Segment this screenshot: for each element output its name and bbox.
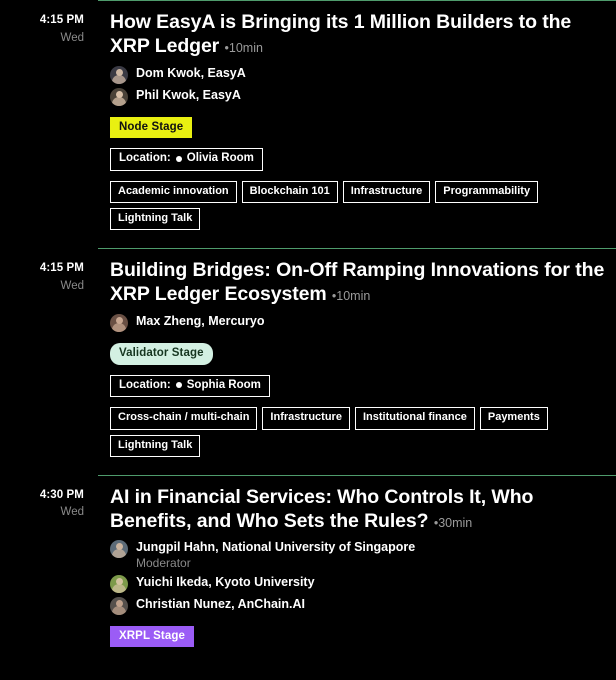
location-dot-icon <box>176 156 182 162</box>
session-time-column: 4:30 PMWed <box>0 488 84 521</box>
session-body: Building Bridges: On-Off Ramping Innovat… <box>98 259 608 456</box>
speaker-text: Christian Nunez, AnChain.AI <box>136 596 305 612</box>
speaker-text: Dom Kwok, EasyA <box>136 65 246 81</box>
speaker-list: Max Zheng, Mercuryo <box>110 313 608 332</box>
stage-badge[interactable]: Validator Stage <box>110 343 213 365</box>
session-day: Wed <box>0 505 84 521</box>
session-duration: •10min <box>332 289 370 303</box>
location-room: Olivia Room <box>187 152 254 166</box>
avatar <box>110 88 128 106</box>
tag-chip[interactable]: Lightning Talk <box>110 208 200 230</box>
stage-row: XRPL Stage <box>110 626 608 648</box>
session-time-column: 4:15 PMWed <box>0 261 84 294</box>
stage-row: Validator Stage <box>110 343 608 365</box>
session-start-time: 4:30 PM <box>0 488 84 504</box>
session-title[interactable]: AI in Financial Services: Who Controls I… <box>110 486 608 534</box>
tag-list: Cross-chain / multi-chainInfrastructureI… <box>110 407 608 456</box>
location-row: Location:Olivia Room <box>110 148 608 171</box>
session-time-column: 4:15 PMWed <box>0 13 84 46</box>
tag-list: Academic innovationBlockchain 101Infrast… <box>110 181 608 230</box>
speaker-list: Jungpil Hahn, National University of Sin… <box>110 539 608 614</box>
speaker-name: Jungpil Hahn, National University of Sin… <box>136 539 415 555</box>
speaker-list: Dom Kwok, EasyAPhil Kwok, EasyA <box>110 65 608 106</box>
speaker-item[interactable]: Dom Kwok, EasyA <box>110 65 608 84</box>
tag-chip[interactable]: Lightning Talk <box>110 435 200 457</box>
avatar <box>110 66 128 84</box>
session-title[interactable]: Building Bridges: On-Off Ramping Innovat… <box>110 259 608 307</box>
speaker-name: Dom Kwok, EasyA <box>136 65 246 81</box>
session-body: How EasyA is Bringing its 1 Million Buil… <box>98 11 608 230</box>
stage-row: Node Stage <box>110 117 608 139</box>
tag-chip[interactable]: Cross-chain / multi-chain <box>110 407 257 429</box>
session-start-time: 4:15 PM <box>0 13 84 29</box>
tag-chip[interactable]: Blockchain 101 <box>242 181 338 203</box>
speaker-item[interactable]: Max Zheng, Mercuryo <box>110 313 608 332</box>
session-card[interactable]: 4:30 PMWedAI in Financial Services: Who … <box>98 475 616 665</box>
location-label: Location: <box>119 152 171 166</box>
speaker-name: Christian Nunez, AnChain.AI <box>136 596 305 612</box>
speaker-role: Moderator <box>136 556 415 571</box>
session-day: Wed <box>0 279 84 295</box>
location-dot-icon <box>176 382 182 388</box>
session-card[interactable]: 4:15 PMWedBuilding Bridges: On-Off Rampi… <box>98 248 616 474</box>
avatar <box>110 540 128 558</box>
session-start-time: 4:15 PM <box>0 261 84 277</box>
stage-badge[interactable]: XRPL Stage <box>110 626 194 648</box>
tag-chip[interactable]: Infrastructure <box>262 407 350 429</box>
location-badge[interactable]: Location:Sophia Room <box>110 375 270 398</box>
location-label: Location: <box>119 379 171 393</box>
session-title[interactable]: How EasyA is Bringing its 1 Million Buil… <box>110 11 608 59</box>
session-title-text: How EasyA is Bringing its 1 Million Buil… <box>110 11 571 57</box>
speaker-item[interactable]: Jungpil Hahn, National University of Sin… <box>110 539 608 570</box>
speaker-name: Yuichi Ikeda, Kyoto University <box>136 574 315 590</box>
location-room: Sophia Room <box>187 379 261 393</box>
tag-chip[interactable]: Infrastructure <box>343 181 431 203</box>
avatar <box>110 597 128 615</box>
session-body: AI in Financial Services: Who Controls I… <box>98 486 608 647</box>
tag-chip[interactable]: Payments <box>480 407 548 429</box>
tag-chip[interactable]: Programmability <box>435 181 538 203</box>
location-badge[interactable]: Location:Olivia Room <box>110 148 263 171</box>
location-row: Location:Sophia Room <box>110 375 608 398</box>
tag-chip[interactable]: Institutional finance <box>355 407 475 429</box>
tag-chip[interactable]: Academic innovation <box>110 181 237 203</box>
avatar <box>110 314 128 332</box>
speaker-text: Yuichi Ikeda, Kyoto University <box>136 574 315 590</box>
speaker-item[interactable]: Phil Kwok, EasyA <box>110 87 608 106</box>
speaker-text: Phil Kwok, EasyA <box>136 87 241 103</box>
session-duration: •30min <box>434 516 472 530</box>
speaker-text: Jungpil Hahn, National University of Sin… <box>136 539 415 570</box>
speaker-name: Max Zheng, Mercuryo <box>136 313 265 329</box>
avatar <box>110 575 128 593</box>
speaker-text: Max Zheng, Mercuryo <box>136 313 265 329</box>
session-day: Wed <box>0 31 84 47</box>
speaker-name: Phil Kwok, EasyA <box>136 87 241 103</box>
schedule-list: 4:15 PMWedHow EasyA is Bringing its 1 Mi… <box>0 0 616 665</box>
session-card[interactable]: 4:15 PMWedHow EasyA is Bringing its 1 Mi… <box>98 0 616 248</box>
speaker-item[interactable]: Yuichi Ikeda, Kyoto University <box>110 574 608 593</box>
session-duration: •10min <box>225 41 263 55</box>
speaker-item[interactable]: Christian Nunez, AnChain.AI <box>110 596 608 615</box>
stage-badge[interactable]: Node Stage <box>110 117 192 139</box>
